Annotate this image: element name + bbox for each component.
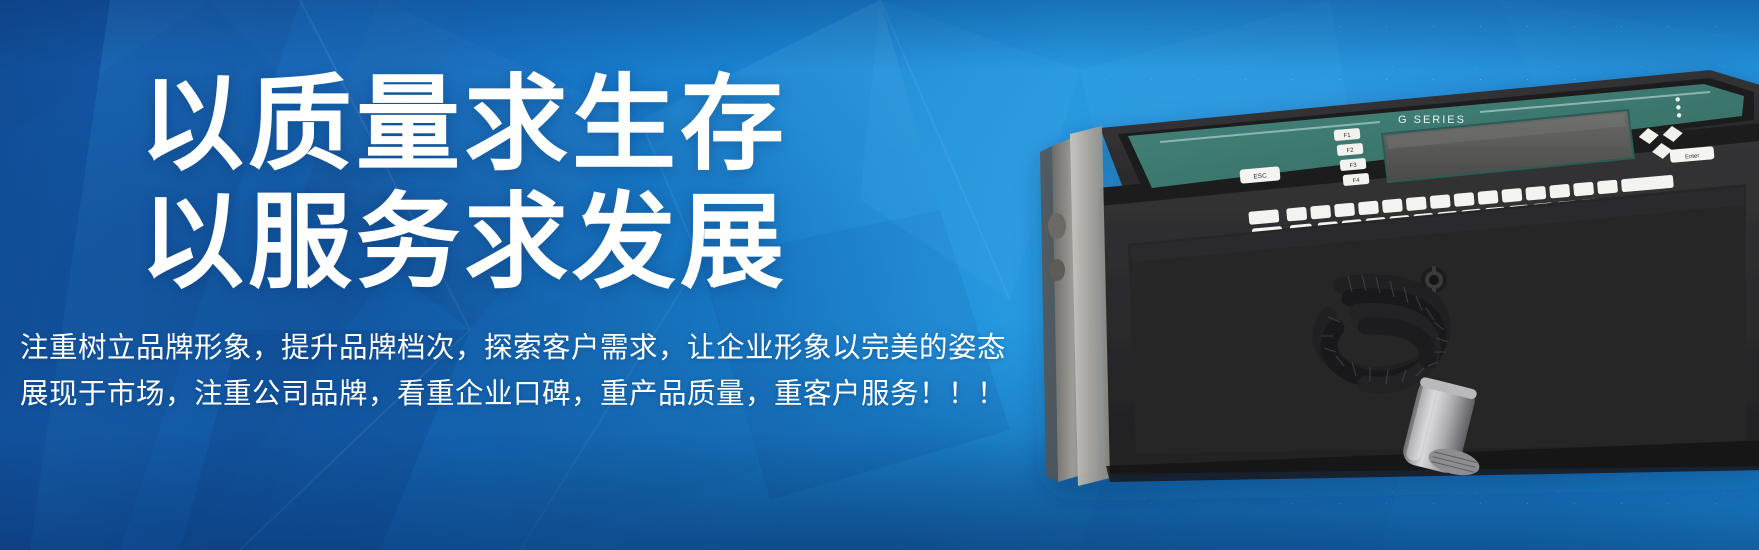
product-photo-inkjet-printer: G SERIES F1 F2	[1010, 30, 1759, 510]
headline-line-2: 以服务求发展	[140, 190, 788, 296]
subtitle: 注重树立品牌形象，提升品牌档次，探索客户需求，让企业形象以完美的姿态 展现于市场…	[20, 326, 1006, 418]
function-key-f1: F1	[1334, 128, 1361, 141]
svg-text:ESC: ESC	[1253, 172, 1267, 180]
subtitle-line-1: 注重树立品牌形象，提升品牌档次，探索客户需求，让企业形象以完美的姿态	[20, 326, 1006, 372]
headline-line-1: 以质量求生存	[140, 72, 788, 178]
promotional-banner: 以质量求生存 以服务求发展 注重树立品牌形象，提升品牌档次，探索客户需求，让企业…	[0, 0, 1759, 550]
function-key-f2: F2	[1337, 143, 1364, 156]
svg-text:F1: F1	[1343, 133, 1351, 140]
svg-text:F4: F4	[1352, 178, 1360, 185]
svg-text:F2: F2	[1346, 148, 1354, 155]
printer-hinge-upper	[1048, 213, 1066, 239]
printer-hinge-lower	[1049, 259, 1065, 281]
subtitle-line-2: 展现于市场，注重公司品牌，看重企业口碑，重产品质量，重客户服务！！！	[20, 372, 1006, 418]
panel-brand-label: G SERIES	[1398, 114, 1466, 126]
copy-block: 以质量求生存 以服务求发展 注重树立品牌形象，提升品牌档次，探索客户需求，让企业…	[0, 0, 1000, 550]
svg-text:Enter: Enter	[1685, 153, 1700, 160]
function-key-f3: F3	[1340, 158, 1367, 171]
svg-text:F3: F3	[1349, 163, 1357, 170]
function-key-f4: F4	[1343, 173, 1370, 186]
headline: 以质量求生存 以服务求发展	[140, 72, 788, 296]
